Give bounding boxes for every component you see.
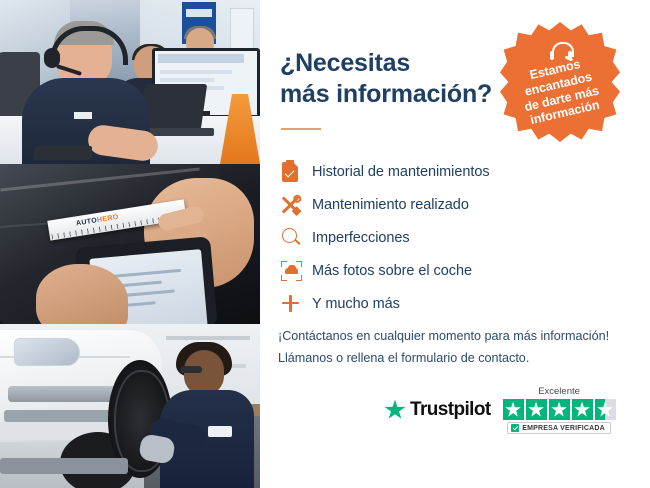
- star-2: [526, 399, 547, 420]
- car-headlight: [14, 338, 80, 366]
- headset-icon: [550, 42, 572, 60]
- feature-label: Imperfecciones: [312, 230, 410, 246]
- desk-tablet: [34, 146, 92, 160]
- feature-list: Historial de mantenimientos Mantenimient…: [278, 155, 578, 320]
- feature-item-imperfections: Imperfecciones: [278, 221, 578, 254]
- feature-item-much-more: Y mucho más: [278, 287, 578, 320]
- wrench-screwdriver-icon: [278, 194, 312, 216]
- verified-label: EMPRESA VERIFICADA: [522, 425, 605, 432]
- car-photo-frame-icon: [278, 260, 312, 282]
- trustpilot-logo: Trustpilot: [384, 399, 491, 421]
- feature-label: Historial de mantenimientos: [312, 164, 490, 180]
- photo-column: AUTOHERO: [0, 0, 260, 488]
- car-lift-arm: [0, 458, 128, 474]
- wall-shelf: [166, 336, 250, 340]
- feature-item-more-photos: Más fotos sobre el coche: [278, 254, 578, 287]
- trustpilot-star-icon: [384, 400, 406, 421]
- magnifier-icon: [278, 227, 312, 249]
- information-banner: AUTOHERO: [0, 0, 650, 488]
- mechanic-wheel-inspection-photo: [0, 324, 260, 488]
- agent-foreground: [26, 24, 148, 164]
- support-starburst-badge: Estamos encantados de darte más informac…: [500, 22, 620, 142]
- call-center-agents-photo: [0, 0, 260, 164]
- title-divider: [281, 128, 321, 130]
- ruler-brand-hero: HERO: [97, 214, 120, 224]
- mechanic: [154, 344, 254, 488]
- plus-icon: [278, 293, 312, 315]
- star-1: [503, 399, 524, 420]
- trustpilot-score: Excelente EMPRESA VERIFICADA: [503, 386, 616, 434]
- content-panel: ¿Necesitas más información? Estamos enca…: [260, 0, 650, 488]
- feature-label: Y mucho más: [312, 296, 400, 312]
- star-4: [572, 399, 593, 420]
- feature-item-maintenance-done: Mantenimiento realizado: [278, 188, 578, 221]
- verified-business-badge: EMPRESA VERIFICADA: [507, 422, 611, 434]
- star-3: [549, 399, 570, 420]
- feature-item-maintenance-history: Historial de mantenimientos: [278, 155, 578, 188]
- ruler-brand-auto: AUTO: [76, 217, 98, 227]
- feature-label: Mantenimiento realizado: [312, 197, 469, 213]
- trustpilot-rating: Trustpilot Excelente EMPRESA VERIFICADA: [384, 386, 636, 434]
- contact-text: ¡Contáctanos en cualquier momento para m…: [278, 325, 633, 369]
- rating-label: Excelente: [538, 386, 580, 397]
- feature-label: Más fotos sobre el coche: [312, 263, 472, 279]
- contact-line-1: ¡Contáctanos en cualquier momento para m…: [278, 325, 633, 347]
- contact-line-2: Llámanos o rellena el formulario de cont…: [278, 347, 633, 369]
- checklist-document-icon: [278, 161, 312, 183]
- star-5-half: [595, 399, 616, 420]
- star-rating: [503, 399, 616, 420]
- verified-check-icon: [511, 424, 519, 432]
- trustpilot-wordmark: Trustpilot: [410, 399, 491, 421]
- car-inspection-ruler-photo: AUTOHERO: [0, 164, 260, 324]
